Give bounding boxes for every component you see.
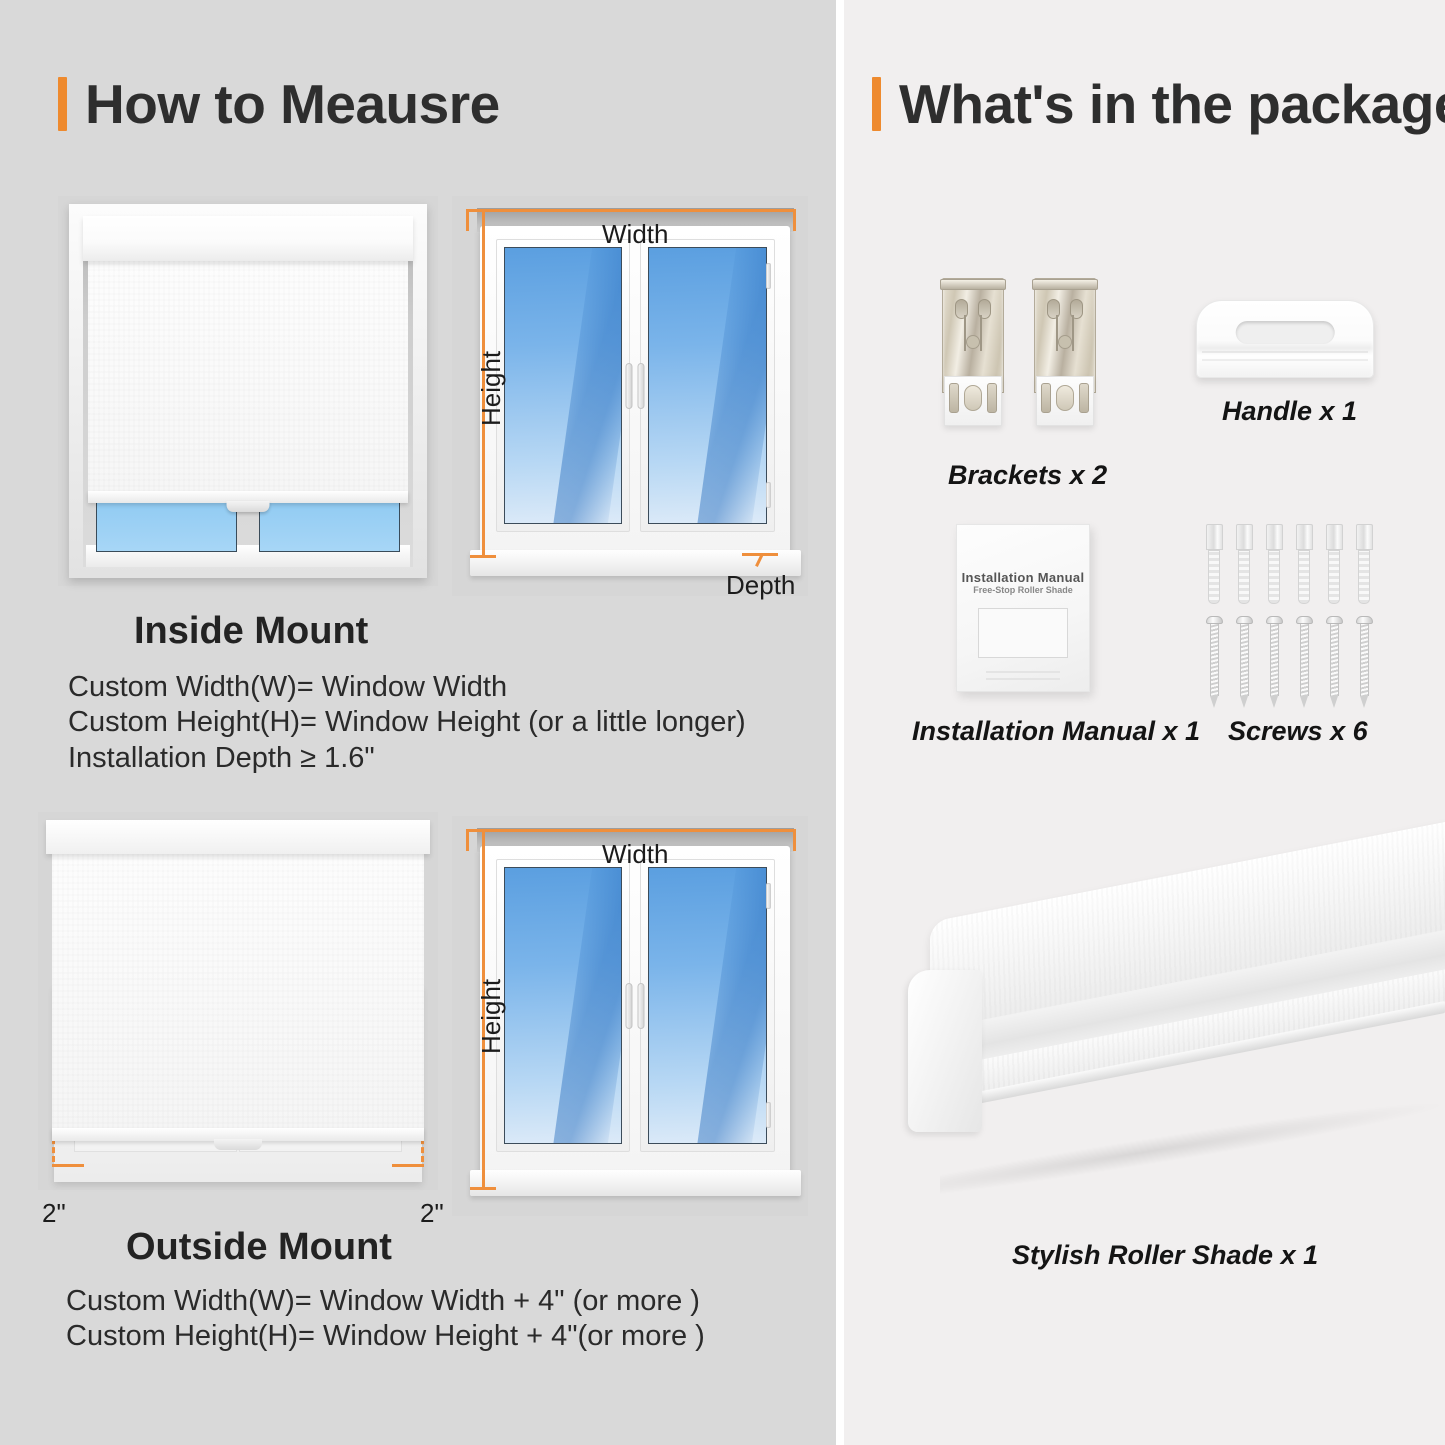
screw-tip <box>1330 696 1338 708</box>
bracket-slot-left <box>1047 299 1060 319</box>
bracket-rib-left <box>1056 315 1058 351</box>
handle-label: Handle x 1 <box>1222 396 1357 427</box>
bracket-slot-left <box>955 299 968 319</box>
bracket-top-lip <box>940 279 1006 290</box>
anchor-head <box>1326 524 1343 550</box>
screw-head <box>1236 616 1253 624</box>
accent-bar-icon <box>58 77 67 131</box>
manual-label: Installation Manual x 1 <box>912 716 1200 747</box>
bracket-pin-left <box>949 383 959 413</box>
screw-shaft <box>1210 624 1219 696</box>
outside-mount-window-diagram: Width Height <box>452 816 808 1216</box>
screw-2 <box>1236 616 1253 708</box>
height-dimension-cap-bottom <box>470 555 496 558</box>
width-dimension-line <box>466 829 796 832</box>
bracket-icon <box>934 278 1114 438</box>
screw-head <box>1326 616 1343 624</box>
inside-mount-line-1: Custom Width(W)= Window Width <box>68 670 746 705</box>
how-to-measure-heading: How to Meausre <box>58 72 500 136</box>
glass-reflection <box>693 247 766 524</box>
screw-tip <box>1300 696 1308 708</box>
inside-mount-line-2: Custom Height(H)= Window Height (or a li… <box>68 705 746 740</box>
window-hinge-top <box>766 263 771 289</box>
screw-tip <box>1270 696 1278 708</box>
anchor-head <box>1206 524 1223 550</box>
handle-body <box>1196 300 1374 378</box>
window-frame <box>480 846 790 1172</box>
screw-3 <box>1266 616 1283 708</box>
window-frame <box>480 226 790 552</box>
width-label: Width <box>602 839 668 870</box>
overhang-right-label: 2" <box>420 1198 444 1229</box>
wall-anchor-3 <box>1266 524 1283 604</box>
height-label: Height <box>476 351 507 426</box>
handle-groove-2 <box>1202 359 1367 361</box>
bracket-rib-right <box>1072 315 1074 351</box>
window-handles <box>626 983 645 1029</box>
window-glass-left <box>504 247 623 524</box>
roller-shade-pull-handle <box>214 1139 262 1150</box>
window-sash-right <box>640 239 775 532</box>
anchor-body <box>1268 550 1280 604</box>
screw-shaft <box>1330 624 1339 696</box>
screw-shaft <box>1270 624 1279 696</box>
manual-cover-title: Installation Manual <box>957 570 1089 585</box>
screw-tip <box>1240 696 1248 708</box>
window-glass-right <box>648 247 767 524</box>
window-sash-left <box>496 859 631 1152</box>
bracket-pin-right <box>1079 383 1089 413</box>
manual-icon: Installation Manual Free-Stop Roller Sha… <box>956 524 1090 692</box>
bracket-left <box>942 278 1004 426</box>
screw-head <box>1206 616 1223 624</box>
anchor-head <box>1236 524 1253 550</box>
window-handle-right <box>638 983 645 1029</box>
package-heading: What's in the package <box>872 72 1445 136</box>
inside-mount-shade-illustration <box>58 196 438 586</box>
handle-grip-slot <box>1236 321 1335 344</box>
bracket-pin-left <box>1041 383 1051 413</box>
panel-divider <box>836 0 844 1445</box>
screws-label: Screws x 6 <box>1228 716 1368 747</box>
overhang-arrow-left <box>52 1164 84 1167</box>
width-label: Width <box>602 219 668 250</box>
width-dimension-cap-right <box>793 209 796 231</box>
width-dimension-cap-left <box>466 829 469 851</box>
inside-mount-line-3: Installation Depth ≥ 1.6" <box>68 741 746 776</box>
window-glass-right <box>259 496 400 552</box>
window-hinge-bottom <box>766 482 771 508</box>
anchor-body <box>1208 550 1220 604</box>
handle-groove-1 <box>1202 351 1367 353</box>
roller-shade-fabric <box>88 259 409 492</box>
outside-mount-line-2: Custom Height(H)= Window Height + 4"(or … <box>66 1319 705 1354</box>
outside-mount-title: Outside Mount <box>126 1226 392 1269</box>
window-handles <box>626 363 645 409</box>
handle-icon <box>1196 300 1386 390</box>
roller-shade-valance <box>83 216 414 262</box>
overhang-left-label: 2" <box>42 1198 66 1229</box>
window-sill <box>470 1170 801 1196</box>
screw-head <box>1356 616 1373 624</box>
screw-1 <box>1206 616 1223 708</box>
window-recess <box>83 216 414 567</box>
bracket-right <box>1034 278 1096 426</box>
wall-anchor-6 <box>1356 524 1373 604</box>
height-dimension-cap-top <box>470 829 496 832</box>
inside-mount-title: Inside Mount <box>134 610 368 653</box>
bracket-screw-hole <box>1058 335 1072 349</box>
bracket-plastic-base <box>944 376 1002 426</box>
anchor-body <box>1328 550 1340 604</box>
screw-shaft <box>1240 624 1249 696</box>
anchor-body <box>1238 550 1250 604</box>
width-dimension-cap-left <box>466 209 469 231</box>
screw-shaft <box>1360 624 1369 696</box>
height-dimension-cap-bottom <box>470 1187 496 1190</box>
screw-6 <box>1356 616 1373 708</box>
roller-shade-drop-shadow <box>940 1092 1440 1197</box>
accent-bar-icon <box>872 77 881 131</box>
window-glass-right <box>648 867 767 1144</box>
outside-mount-instructions: Custom Width(W)= Window Width + 4" (or m… <box>66 1284 705 1355</box>
roller-shade-end-cap <box>908 970 982 1132</box>
how-to-measure-panel: How to Meausre <box>0 0 836 1445</box>
anchor-head <box>1296 524 1313 550</box>
window-glass-left <box>96 496 237 552</box>
manual-cover-subtitle: Free-Stop Roller Shade <box>957 585 1089 595</box>
bracket-rib-left <box>964 315 966 351</box>
screw-icon <box>1202 524 1402 694</box>
screw-shaft <box>1300 624 1309 696</box>
screw-tip <box>1210 696 1218 708</box>
manual-footer-line-1 <box>986 671 1060 673</box>
outside-mount-shade-illustration <box>38 812 438 1190</box>
inside-mount-window-diagram: Width Height Depth <box>452 196 808 596</box>
screw-head <box>1296 616 1313 624</box>
package-contents-panel: What's in the package <box>844 0 1445 1445</box>
bracket-pin-right <box>987 383 997 413</box>
roller-shade-pull-handle <box>227 501 270 512</box>
bracket-rib-right <box>980 315 982 351</box>
brackets-label: Brackets x 2 <box>948 460 1107 491</box>
wall-anchor-2 <box>1236 524 1253 604</box>
bracket-top-lip <box>1032 279 1098 290</box>
screw-head <box>1266 616 1283 624</box>
inside-mount-instructions: Custom Width(W)= Window Width Custom Hei… <box>68 670 746 776</box>
package-title: What's in the package <box>899 72 1445 136</box>
roller-shade-valance <box>46 820 430 854</box>
roller-shade-icon <box>900 880 1440 1220</box>
manual-footer-line-2 <box>986 678 1060 680</box>
window-glass-left <box>504 867 623 1144</box>
anchor-head <box>1356 524 1373 550</box>
width-dimension-line <box>466 209 796 212</box>
window-handle-left <box>626 983 633 1029</box>
screw-4 <box>1296 616 1313 708</box>
manual-cover-diagram <box>978 608 1068 658</box>
bracket-center-opening <box>1056 385 1074 411</box>
wall-anchor-1 <box>1206 524 1223 604</box>
screw-5 <box>1326 616 1343 708</box>
overhang-arrow-right <box>392 1164 424 1167</box>
window-hinge-top <box>766 883 771 909</box>
window-handle-left <box>626 363 633 409</box>
wall-anchor-4 <box>1296 524 1313 604</box>
depth-label: Depth <box>726 570 795 601</box>
height-label: Height <box>476 979 507 1054</box>
glass-reflection <box>549 247 622 524</box>
width-dimension-cap-right <box>793 829 796 851</box>
outside-mount-line-1: Custom Width(W)= Window Width + 4" (or m… <box>66 1284 705 1319</box>
glass-reflection <box>693 867 766 1144</box>
window-sash-left <box>496 239 631 532</box>
anchor-body <box>1358 550 1370 604</box>
window-sash-right <box>640 859 775 1152</box>
window-handle-right <box>638 363 645 409</box>
roller-shade-fabric <box>52 852 424 1130</box>
screw-tip <box>1360 696 1368 708</box>
how-to-measure-title: How to Meausre <box>85 72 500 136</box>
anchor-body <box>1298 550 1310 604</box>
window-hinge-bottom <box>766 1102 771 1128</box>
wall-anchor-5 <box>1326 524 1343 604</box>
glass-reflection <box>549 867 622 1144</box>
bracket-center-opening <box>964 385 982 411</box>
bracket-plastic-base <box>1036 376 1094 426</box>
anchor-head <box>1266 524 1283 550</box>
bracket-screw-hole <box>966 335 980 349</box>
roller-shade-label: Stylish Roller Shade x 1 <box>1012 1240 1318 1271</box>
